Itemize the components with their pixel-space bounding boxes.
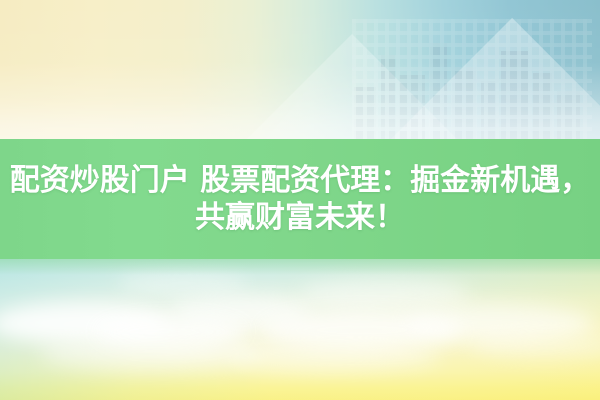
headline-band: 配资炒股门户 股票配资代理：掘金新机遇，共赢财富未来！ [0, 139, 600, 259]
band-reflection-glow [0, 259, 600, 275]
promo-banner: 配资炒股门户 股票配资代理：掘金新机遇，共赢财富未来！ [0, 0, 600, 400]
cloud-shape [230, 343, 440, 371]
banner-headline-text: 配资炒股门户 股票配资代理：掘金新机遇，共赢财富未来！ [6, 162, 594, 236]
cloud-shape [300, 279, 470, 309]
bottom-sky-panel [0, 259, 600, 400]
top-decorative-panel [0, 0, 600, 139]
top-panel-fade-overlay [0, 0, 600, 139]
cloud-shape [40, 339, 260, 369]
